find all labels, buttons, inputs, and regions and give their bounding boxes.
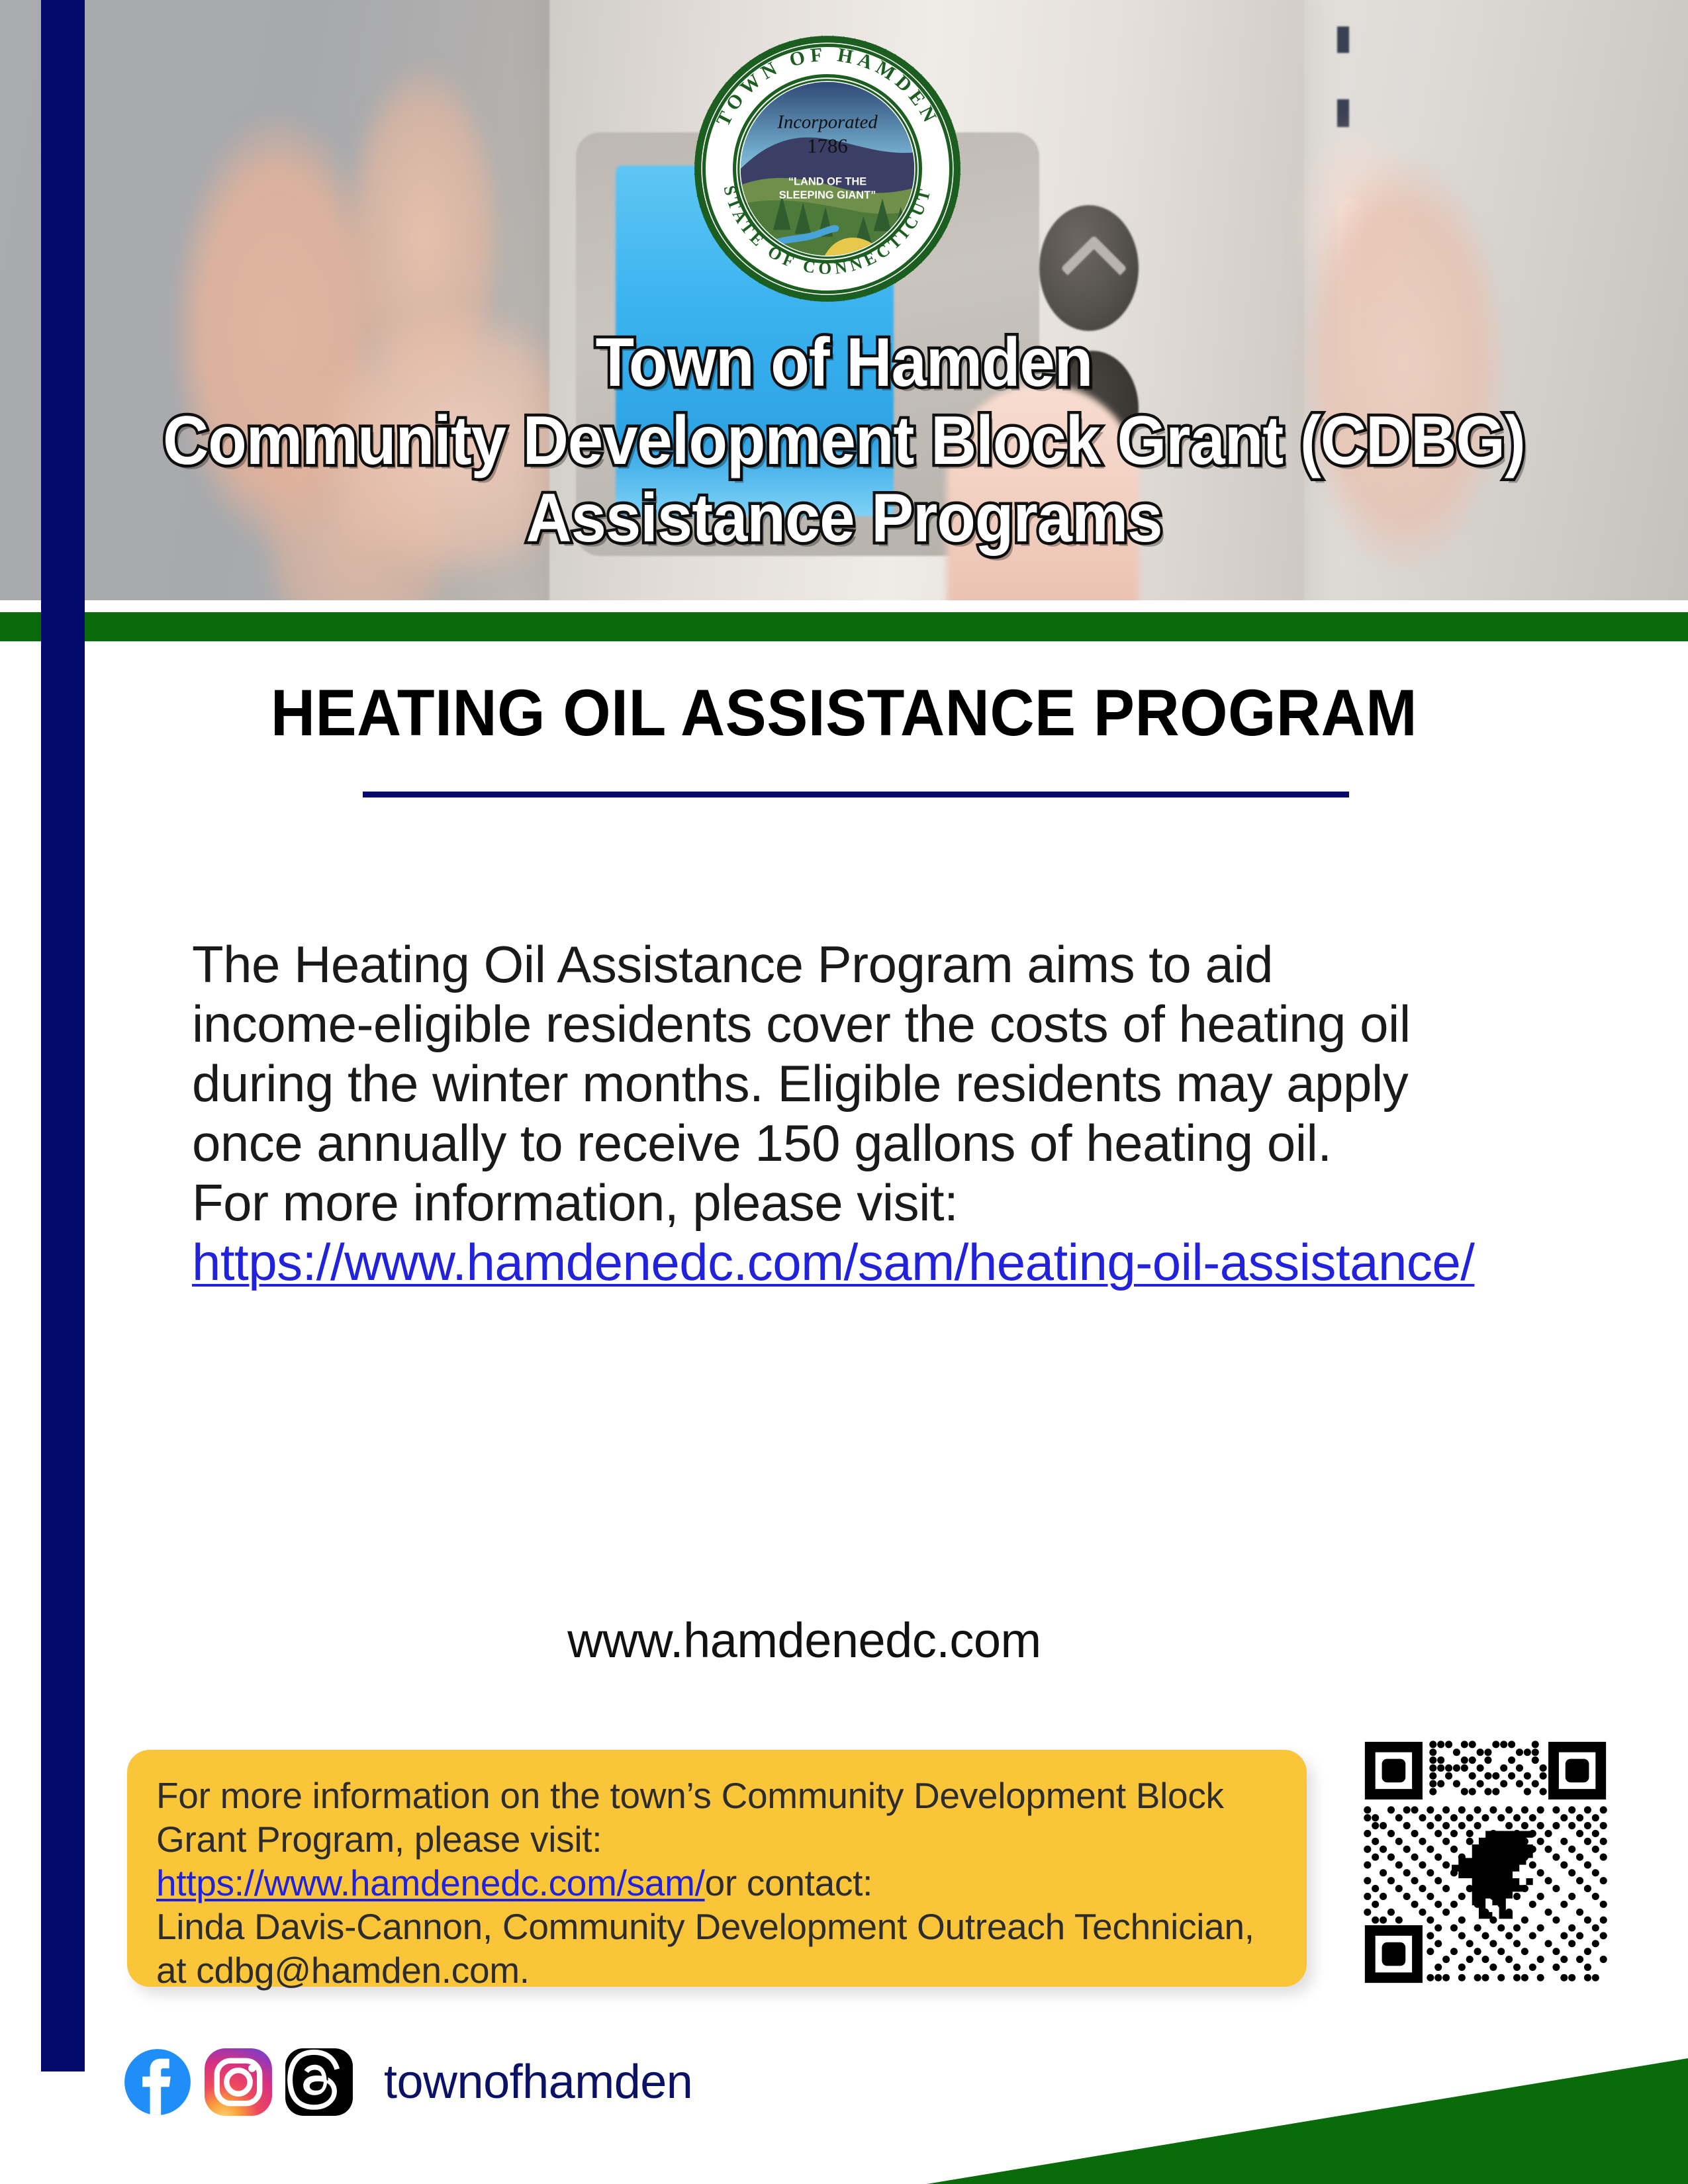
body-line-3: during the winter months. Eligible resid… (192, 1054, 1582, 1113)
website-line: www.hamdenedc.com (0, 1612, 1609, 1668)
body-line-1: The Heating Oil Assistance Program aims … (192, 934, 1582, 994)
seal-incorporated-label: Incorporated (776, 112, 878, 133)
body-line-5: For more information, please visit: (192, 1173, 1582, 1232)
hero-title-line-1: Town of Hamden (68, 324, 1620, 402)
callout-line-1: For more information on the town’s Commu… (156, 1774, 1278, 1817)
seal-motto-line1: “LAND OF THE (788, 176, 867, 188)
seal-incorporated-year: 1786 (807, 134, 848, 157)
facebook-icon[interactable] (123, 2048, 192, 2116)
body-line-2: income-eligible residents cover the cost… (192, 994, 1582, 1054)
threads-icon[interactable] (285, 2048, 353, 2116)
program-title: HEATING OIL ASSISTANCE PROGRAM (51, 675, 1638, 751)
thermostat-vent-1 (1337, 26, 1349, 53)
town-of-hamden-seal-icon: TOWN OF HAMDEN STATE OF CONNECTICUT Inco… (692, 33, 963, 304)
navy-left-stripe (41, 0, 85, 2071)
cdbg-sam-link[interactable]: https://www.hamdenedc.com/sam/ (156, 1862, 705, 1903)
heating-oil-assistance-link[interactable]: https://www.hamdenedc.com/sam/heating-oi… (192, 1233, 1474, 1291)
cdbg-info-callout: For more information on the town’s Commu… (127, 1750, 1307, 1987)
seal-motto-line2: SLEEPING GIANT” (779, 189, 876, 201)
callout-line-4: Linda Davis-Cannon, Community Developmen… (156, 1905, 1278, 1948)
hero-banner: TOWN OF HAMDEN STATE OF CONNECTICUT Inco… (0, 0, 1688, 600)
callout-after-link: or contact: (705, 1862, 873, 1903)
hero-title-line-3: Assistance Programs (68, 480, 1620, 558)
callout-line-2: Grant Program, please visit: (156, 1817, 1278, 1861)
instagram-icon[interactable] (204, 2048, 273, 2116)
social-links-row: townofhamden (123, 2048, 692, 2116)
hero-title: Town of Hamden Community Development Blo… (68, 324, 1620, 558)
program-description: The Heating Oil Assistance Program aims … (192, 934, 1582, 1292)
body-line-4: once annually to receive 150 gallons of … (192, 1113, 1582, 1173)
callout-text: For more information on the town’s Commu… (156, 1774, 1278, 1992)
callout-line-5: at cdbg@hamden.com. (156, 1948, 1278, 1992)
hero-title-line-2: Community Development Block Grant (CDBG) (68, 402, 1620, 480)
qr-code-icon[interactable] (1354, 1731, 1617, 1993)
social-handle: townofhamden (384, 2055, 692, 2109)
title-underline-rule (363, 792, 1349, 797)
green-divider-bar (0, 612, 1688, 641)
